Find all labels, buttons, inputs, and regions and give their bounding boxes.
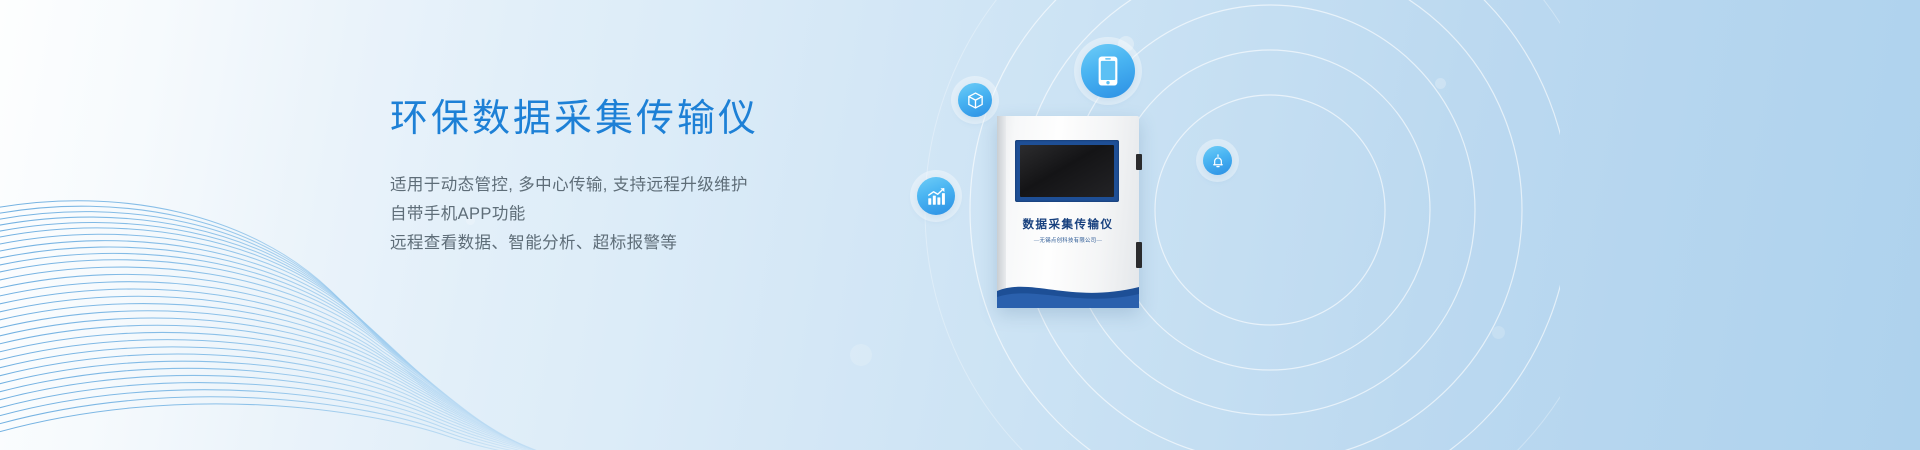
feature-line: 远程查看数据、智能分析、超标报警等 [390,229,759,258]
cube-icon[interactable] [958,83,992,117]
feature-line: 自带手机APP功能 [390,200,759,229]
device-screen-bezel [1015,140,1119,202]
data-logger-device: 数据采集传输仪 —无锡点创科技有限公司— [997,116,1139,308]
banner-text-block: 环保数据采集传输仪 适用于动态管控, 多中心传输, 支持远程升级维护 自带手机A… [390,96,759,258]
device-side-connector-top [1136,154,1142,170]
device-label-company: —无锡点创科技有限公司— [997,236,1139,244]
banner-feature-list: 适用于动态管控, 多中心传输, 支持远程升级维护 自带手机APP功能 远程查看数… [390,171,759,258]
alarm-bell-icon[interactable] [1203,146,1232,175]
device-display [1020,145,1114,197]
device-footer-wave [997,274,1139,308]
bokeh-dot [1492,326,1505,339]
bokeh-dot [850,344,872,366]
smartphone-icon[interactable] [1081,44,1135,98]
concentric-rings-decoration [800,0,1560,450]
bar-chart-icon[interactable] [917,177,955,215]
device-side-connector-bottom [1136,242,1142,268]
page-title: 环保数据采集传输仪 [390,96,759,142]
device-label-title: 数据采集传输仪 [997,216,1139,232]
bokeh-dot [1435,78,1446,89]
feature-line: 适用于动态管控, 多中心传输, 支持远程升级维护 [390,171,759,200]
product-banner: 数据采集传输仪 —无锡点创科技有限公司— 环保数据采集传输仪 适用于动态管控, … [0,0,1920,450]
